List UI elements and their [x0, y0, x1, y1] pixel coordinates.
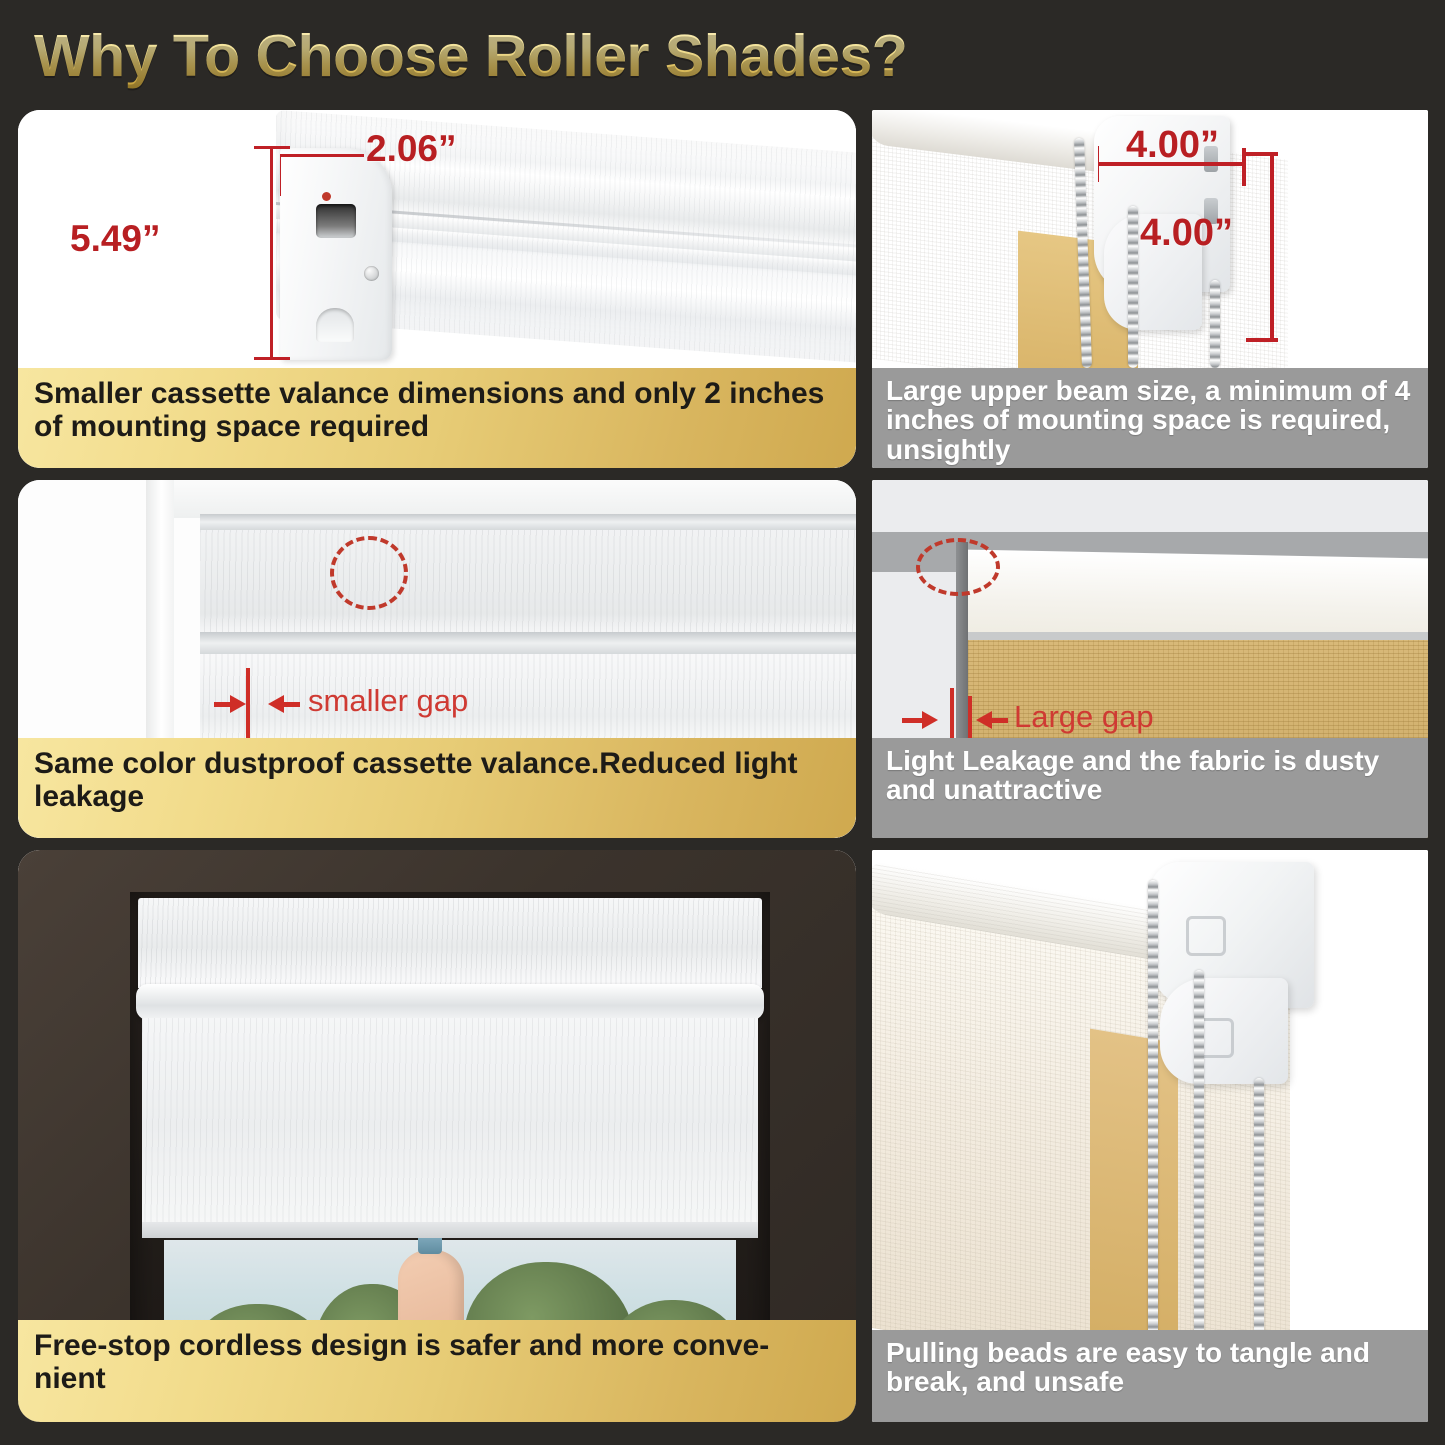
- height-dim-tick-bottom: [254, 357, 290, 360]
- upper-beam: [968, 550, 1428, 645]
- bracket-glyph-icon: [1186, 916, 1226, 956]
- width-dim-tick-left: [280, 154, 281, 196]
- con-panel-1: 4.00” 4.00” Large upper beam size, a min…: [872, 110, 1428, 468]
- pro-caption-2: Same color dustproof cassette valance.Re…: [18, 738, 856, 838]
- width-dimension-label: 4.00”: [1126, 124, 1219, 167]
- end-cap-screw: [364, 266, 379, 281]
- highlight-circle: [916, 538, 1000, 596]
- height-dim-tick-top: [1246, 152, 1278, 156]
- height-dim-line: [270, 146, 273, 360]
- gap-arrow-left: [268, 695, 284, 713]
- end-cap-slot: [316, 204, 356, 238]
- con-panel-3: Pulling beads are easy to tangle and bre…: [872, 850, 1428, 1422]
- con-panel-2: Large gap Light Leakage and the fabric i…: [872, 480, 1428, 838]
- shade-bottom-bar: [142, 1222, 758, 1238]
- pro-panel-3: Free-stop cordless design is safer and m…: [18, 850, 856, 1422]
- end-cap-marker: [322, 192, 331, 201]
- bead-chain: [1148, 880, 1158, 1350]
- pro-caption-1: Smaller cassette valance dimensions and …: [18, 368, 856, 468]
- height-dimension-label: 5.49”: [70, 218, 161, 260]
- valance-illustration: 2.06” 5.49”: [18, 110, 856, 380]
- end-cap-knob: [316, 308, 354, 342]
- mounting-bracket-lower: [1160, 978, 1288, 1084]
- bead-chain: [1194, 970, 1204, 1352]
- con-caption-1: Large upper beam size, a minimum of 4 in…: [872, 368, 1428, 468]
- gap-arrow-stem-right: [992, 718, 1008, 723]
- tan-fabric-band: [1090, 1029, 1178, 1374]
- gap-label: smaller gap: [308, 683, 468, 719]
- window-frame-head: [146, 480, 856, 518]
- gap-label: Large gap: [1014, 699, 1154, 735]
- shade-top-rail: [200, 514, 856, 530]
- bead-chain: [1128, 206, 1138, 368]
- height-dim-tick-bottom: [1246, 338, 1278, 342]
- gap-arrow-right: [230, 695, 246, 713]
- pro-caption-3: Free-stop cordless design is safer and m…: [18, 1320, 856, 1422]
- shade-mid-rail: [200, 632, 856, 654]
- pro-panel-2: smaller gap Same color dustproof cassett…: [18, 480, 856, 838]
- width-dimension-label: 2.06”: [366, 128, 457, 170]
- gap-arrow-stem-right: [284, 702, 300, 707]
- page-title: Why To Choose Roller Shades?: [34, 22, 907, 90]
- height-dim-line: [1270, 152, 1274, 342]
- bead-chain: [1254, 1078, 1264, 1352]
- valance-lip: [136, 984, 764, 1020]
- infographic-page: Why To Choose Roller Shades?: [0, 0, 1445, 1445]
- pro-panel-1: 2.06” 5.49” Smaller cassette valance dim…: [18, 110, 856, 468]
- comparison-grid: 2.06” 5.49” Smaller cassette valance dim…: [0, 110, 1445, 1435]
- bead-chain: [1210, 280, 1220, 368]
- width-dim-line: [280, 154, 364, 157]
- height-dim-tick-top: [254, 146, 290, 149]
- height-dimension-label: 4.00”: [1140, 212, 1233, 255]
- valance-end-cap: [280, 148, 392, 360]
- gap-arrow-right: [922, 711, 938, 729]
- shade-fabric: [142, 1018, 758, 1233]
- highlight-circle: [330, 536, 408, 610]
- gap-arrow-left: [976, 711, 992, 729]
- comparison-row-2: smaller gap Same color dustproof cassett…: [0, 480, 1445, 850]
- con-caption-3: Pulling beads are easy to tangle and bre…: [872, 1330, 1428, 1422]
- comparison-row-1: 2.06” 5.49” Smaller cassette valance dim…: [0, 110, 1445, 480]
- cassette-valance: [138, 898, 762, 988]
- comparison-row-3: Free-stop cordless design is safer and m…: [0, 850, 1445, 1435]
- gap-arrow-stem-left: [902, 718, 924, 723]
- con-caption-2: Light Leakage and the fabric is dusty an…: [872, 738, 1428, 838]
